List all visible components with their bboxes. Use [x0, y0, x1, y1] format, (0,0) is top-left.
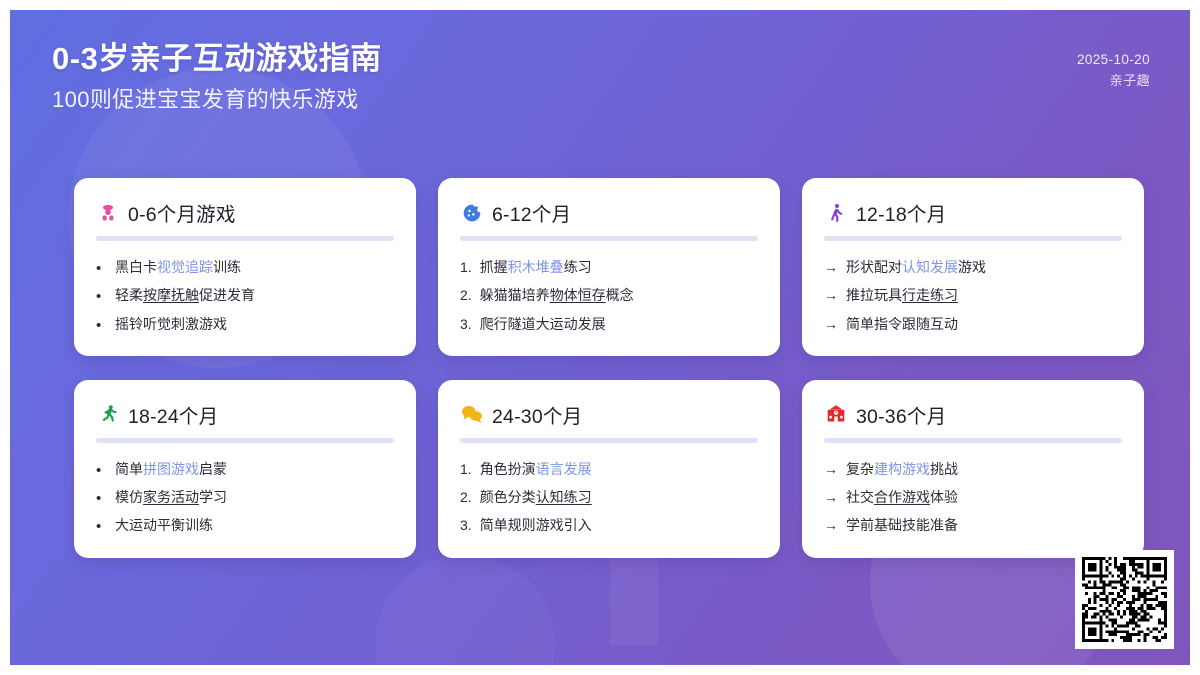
item-text-plain: 社交: [846, 489, 874, 505]
list-item[interactable]: 2.颜色分类认知练习: [460, 483, 758, 511]
list-item[interactable]: •摇铃听觉刺激游戏: [96, 310, 394, 338]
list-item[interactable]: 1.角色扮演语言发展: [460, 455, 758, 483]
item-text-plain: 角色扮演: [480, 461, 536, 477]
list-item-text: 摇铃听觉刺激游戏: [115, 314, 394, 334]
list-item[interactable]: •大运动平衡训练: [96, 511, 394, 539]
item-text-plain: 躲猫猫培养: [480, 287, 550, 303]
item-text-plain: 爬行隧道大运动发展: [480, 316, 606, 332]
card-list: •黑白卡视觉追踪训练•轻柔按摩抚触促进发育•摇铃听觉刺激游戏: [96, 253, 394, 338]
list-item[interactable]: →形状配对认知发展游戏: [824, 253, 1122, 281]
age-card[interactable]: 24-30个月1.角色扮演语言发展2.颜色分类认知练习3.简单规则游戏引入: [438, 380, 780, 558]
item-text-plain: 简单: [115, 461, 143, 477]
list-marker: 3.: [460, 515, 472, 535]
card-title: 30-36个月: [856, 400, 946, 429]
item-text-plain: 大运动平衡训练: [115, 517, 213, 533]
list-item[interactable]: •轻柔按摩抚触促进发育: [96, 281, 394, 309]
card-divider: [460, 438, 758, 443]
item-text-highlight: 语言发展: [536, 461, 592, 477]
item-text-highlight: 拼图游戏: [143, 461, 199, 477]
list-item-text: 大运动平衡训练: [115, 515, 394, 535]
list-item[interactable]: 3.爬行隧道大运动发展: [460, 310, 758, 338]
baby-icon: [96, 201, 119, 224]
card-title: 12-18个月: [856, 198, 946, 227]
list-item-text: 爬行隧道大运动发展: [480, 314, 758, 334]
card-title: 6-12个月: [492, 198, 571, 227]
item-text-highlight: 视觉追踪: [157, 259, 213, 275]
item-text-underline: 行走练习: [902, 287, 958, 303]
card-list: →形状配对认知发展游戏→推拉玩具行走练习→简单指令跟随互动: [824, 253, 1122, 338]
list-item-text: 轻柔按摩抚触促进发育: [115, 285, 394, 305]
list-item-text: 复杂建构游戏挑战: [846, 459, 1122, 479]
item-text-plain: 轻柔: [115, 287, 143, 303]
list-item[interactable]: •模仿家务活动学习: [96, 483, 394, 511]
card-divider: [824, 438, 1122, 443]
card-list: •简单拼图游戏启蒙•模仿家务活动学习•大运动平衡训练: [96, 455, 394, 540]
item-text-plain: 学前基础技能准备: [846, 517, 958, 533]
item-text-plain: 简单指令跟随互动: [846, 316, 958, 332]
item-text-highlight: 认知发展: [902, 259, 958, 275]
item-text-suffix: 练习: [564, 259, 592, 275]
item-text-plain: 形状配对: [846, 259, 902, 275]
item-text-plain: 推拉玩具: [846, 287, 902, 303]
card-title: 0-6个月游戏: [128, 198, 236, 227]
card-header: 0-6个月游戏: [96, 198, 394, 227]
list-marker: →: [824, 487, 838, 507]
age-card[interactable]: 30-36个月→复杂建构游戏挑战→社交合作游戏体验→学前基础技能准备: [802, 380, 1144, 558]
list-marker: →: [824, 314, 838, 334]
card-header: 30-36个月: [824, 400, 1122, 429]
card-list: →复杂建构游戏挑战→社交合作游戏体验→学前基础技能准备: [824, 455, 1122, 540]
item-text-underline: 合作游戏: [874, 489, 930, 505]
walking-person-icon: [824, 201, 847, 224]
list-item-text: 黑白卡视觉追踪训练: [115, 257, 394, 277]
poster-header: 0-3岁亲子互动游戏指南 100则促进宝宝发育的快乐游戏 2025-10-20 …: [10, 10, 1190, 114]
card-header: 18-24个月: [96, 400, 394, 429]
item-text-underline: 家务活动: [143, 489, 199, 505]
list-item[interactable]: →社交合作游戏体验: [824, 483, 1122, 511]
item-text-plain: 摇铃听觉刺激游戏: [115, 316, 227, 332]
list-item-text: 躲猫猫培养物体恒存概念: [480, 285, 758, 305]
list-item[interactable]: 2.躲猫猫培养物体恒存概念: [460, 281, 758, 309]
page-subtitle: 100则促进宝宝发育的快乐游戏: [52, 86, 382, 115]
list-marker: 2.: [460, 285, 472, 305]
list-item-text: 简单拼图游戏启蒙: [115, 459, 394, 479]
poster-root: 0-3岁亲子互动游戏指南 100则促进宝宝发育的快乐游戏 2025-10-20 …: [0, 0, 1200, 675]
list-marker: •: [96, 289, 107, 304]
item-text-suffix: 游戏: [958, 259, 986, 275]
item-text-suffix: 挑战: [930, 461, 958, 477]
item-text-suffix: 训练: [213, 259, 241, 275]
list-marker: •: [96, 491, 107, 506]
item-text-suffix: 概念: [606, 287, 634, 303]
publish-date: 2025-10-20: [1077, 50, 1150, 71]
list-marker: →: [824, 515, 838, 535]
card-header: 24-30个月: [460, 400, 758, 429]
list-item[interactable]: 1.抓握积木堆叠练习: [460, 253, 758, 281]
list-marker: •: [96, 261, 107, 276]
qr-code-image: [1082, 557, 1167, 642]
item-text-underline: 认知练习: [536, 489, 592, 505]
item-text-plain: 黑白卡: [115, 259, 157, 275]
age-card[interactable]: 0-6个月游戏•黑白卡视觉追踪训练•轻柔按摩抚触促进发育•摇铃听觉刺激游戏: [74, 178, 416, 356]
decorative-circle-mid: [375, 555, 555, 675]
list-item[interactable]: 3.简单规则游戏引入: [460, 511, 758, 539]
list-item[interactable]: →推拉玩具行走练习: [824, 281, 1122, 309]
item-text-suffix: 启蒙: [199, 461, 227, 477]
item-text-highlight: 积木堆叠: [508, 259, 564, 275]
age-card[interactable]: 18-24个月•简单拼图游戏启蒙•模仿家务活动学习•大运动平衡训练: [74, 380, 416, 558]
item-text-plain: 模仿: [115, 489, 143, 505]
item-text-plain: 简单规则游戏引入: [480, 517, 592, 533]
list-item[interactable]: •简单拼图游戏启蒙: [96, 455, 394, 483]
list-marker: →: [824, 257, 838, 277]
list-item-text: 社交合作游戏体验: [846, 487, 1122, 507]
card-divider: [824, 236, 1122, 241]
list-item-text: 角色扮演语言发展: [480, 459, 758, 479]
list-item[interactable]: →简单指令跟随互动: [824, 310, 1122, 338]
item-text-suffix: 学习: [199, 489, 227, 505]
list-item-text: 形状配对认知发展游戏: [846, 257, 1122, 277]
item-text-suffix: 体验: [930, 489, 958, 505]
card-list: 1.角色扮演语言发展2.颜色分类认知练习3.简单规则游戏引入: [460, 455, 758, 540]
item-text-underline: 按摩抚触: [143, 287, 199, 303]
list-marker: 3.: [460, 314, 472, 334]
school-building-icon: [824, 403, 847, 426]
list-item-text: 推拉玩具行走练习: [846, 285, 1122, 305]
age-card[interactable]: 6-12个月1.抓握积木堆叠练习2.躲猫猫培养物体恒存概念3.爬行隧道大运动发展: [438, 178, 780, 356]
card-header: 12-18个月: [824, 198, 1122, 227]
card-title: 24-30个月: [492, 400, 582, 429]
list-marker: •: [96, 318, 107, 333]
card-header: 6-12个月: [460, 198, 758, 227]
item-text-plain: 颜色分类: [480, 489, 536, 505]
item-text-underline: 物体恒存: [550, 287, 606, 303]
list-marker: 2.: [460, 487, 472, 507]
list-marker: →: [824, 459, 838, 479]
source-name: 亲子趣: [1077, 71, 1150, 92]
page-title: 0-3岁亲子互动游戏指南: [52, 40, 382, 79]
age-card[interactable]: 12-18个月→形状配对认知发展游戏→推拉玩具行走练习→简单指令跟随互动: [802, 178, 1144, 356]
item-text-highlight: 建构游戏: [874, 461, 930, 477]
list-item-text: 简单指令跟随互动: [846, 314, 1122, 334]
running-person-icon: [96, 403, 119, 426]
qr-code[interactable]: [1075, 550, 1174, 649]
list-marker: →: [824, 285, 838, 305]
title-block: 0-3岁亲子互动游戏指南 100则促进宝宝发育的快乐游戏: [42, 40, 382, 114]
cookie-icon: [460, 201, 483, 224]
cards-grid: 0-6个月游戏•黑白卡视觉追踪训练•轻柔按摩抚触促进发育•摇铃听觉刺激游戏6-1…: [74, 178, 1152, 558]
list-item-text: 学前基础技能准备: [846, 515, 1122, 535]
list-item-text: 简单规则游戏引入: [480, 515, 758, 535]
speech-bubbles-icon: [460, 403, 483, 426]
card-divider: [96, 236, 394, 241]
list-item-text: 抓握积木堆叠练习: [480, 257, 758, 277]
item-text-plain: 抓握: [480, 259, 508, 275]
list-marker: •: [96, 463, 107, 478]
list-item-text: 模仿家务活动学习: [115, 487, 394, 507]
card-divider: [96, 438, 394, 443]
list-marker: 1.: [460, 257, 472, 277]
card-list: 1.抓握积木堆叠练习2.躲猫猫培养物体恒存概念3.爬行隧道大运动发展: [460, 253, 758, 338]
list-item-text: 颜色分类认知练习: [480, 487, 758, 507]
meta-block: 2025-10-20 亲子趣: [1077, 40, 1150, 92]
list-item[interactable]: →复杂建构游戏挑战: [824, 455, 1122, 483]
card-title: 18-24个月: [128, 400, 218, 429]
list-marker: 1.: [460, 459, 472, 479]
list-item[interactable]: •黑白卡视觉追踪训练: [96, 253, 394, 281]
card-divider: [460, 236, 758, 241]
item-text-suffix: 促进发育: [199, 287, 255, 303]
list-marker: •: [96, 519, 107, 534]
item-text-plain: 复杂: [846, 461, 874, 477]
list-item[interactable]: →学前基础技能准备: [824, 511, 1122, 539]
